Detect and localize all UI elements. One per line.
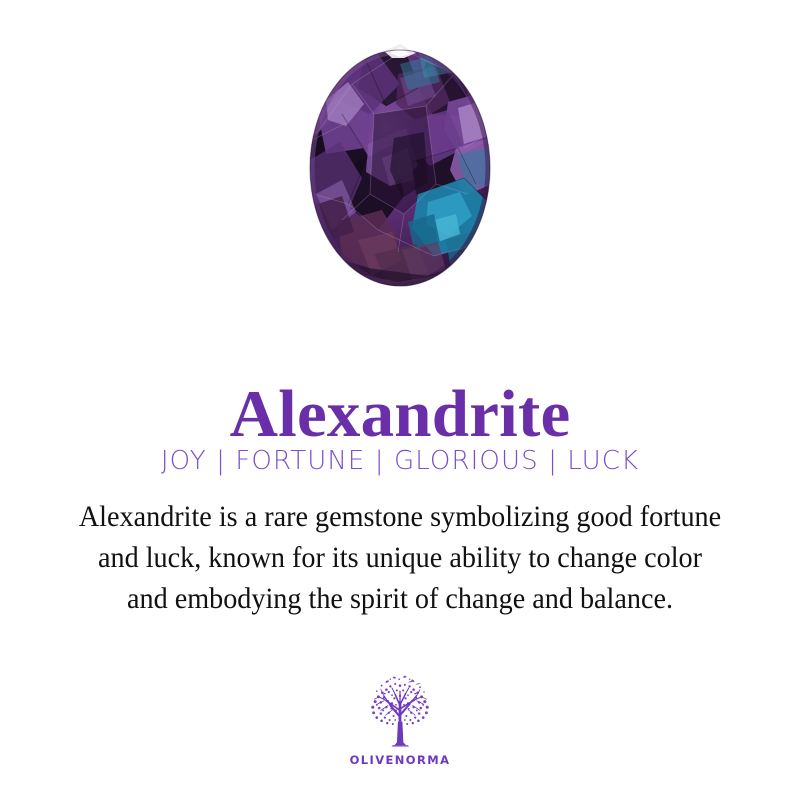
gemstone-description: Alexandrite is a rare gemstone symbolizi… [26, 497, 774, 620]
description-line-2: and luck, known for its unique ability t… [43, 538, 757, 579]
description-line-1: Alexandrite is a rare gemstone symbolizi… [43, 497, 757, 538]
alexandrite-gemstone-icon [308, 44, 492, 288]
tree-icon [360, 672, 440, 752]
brand-wordmark: OLIVENORMA [350, 753, 451, 767]
gemstone-keywords: JOY | FORTUNE | GLORIOUS | LUCK [0, 448, 800, 475]
gemstone-title: Alexandrite [0, 381, 800, 448]
gemstone-info-card: Alexandrite JOY | FORTUNE | GLORIOUS | L… [0, 0, 800, 800]
description-line-3: and embodying the spirit of change and b… [43, 579, 757, 620]
gemstone-stage [308, 44, 492, 288]
brand-logo: OLIVENORMA [0, 672, 800, 767]
gemstone-image-container [0, 44, 800, 294]
